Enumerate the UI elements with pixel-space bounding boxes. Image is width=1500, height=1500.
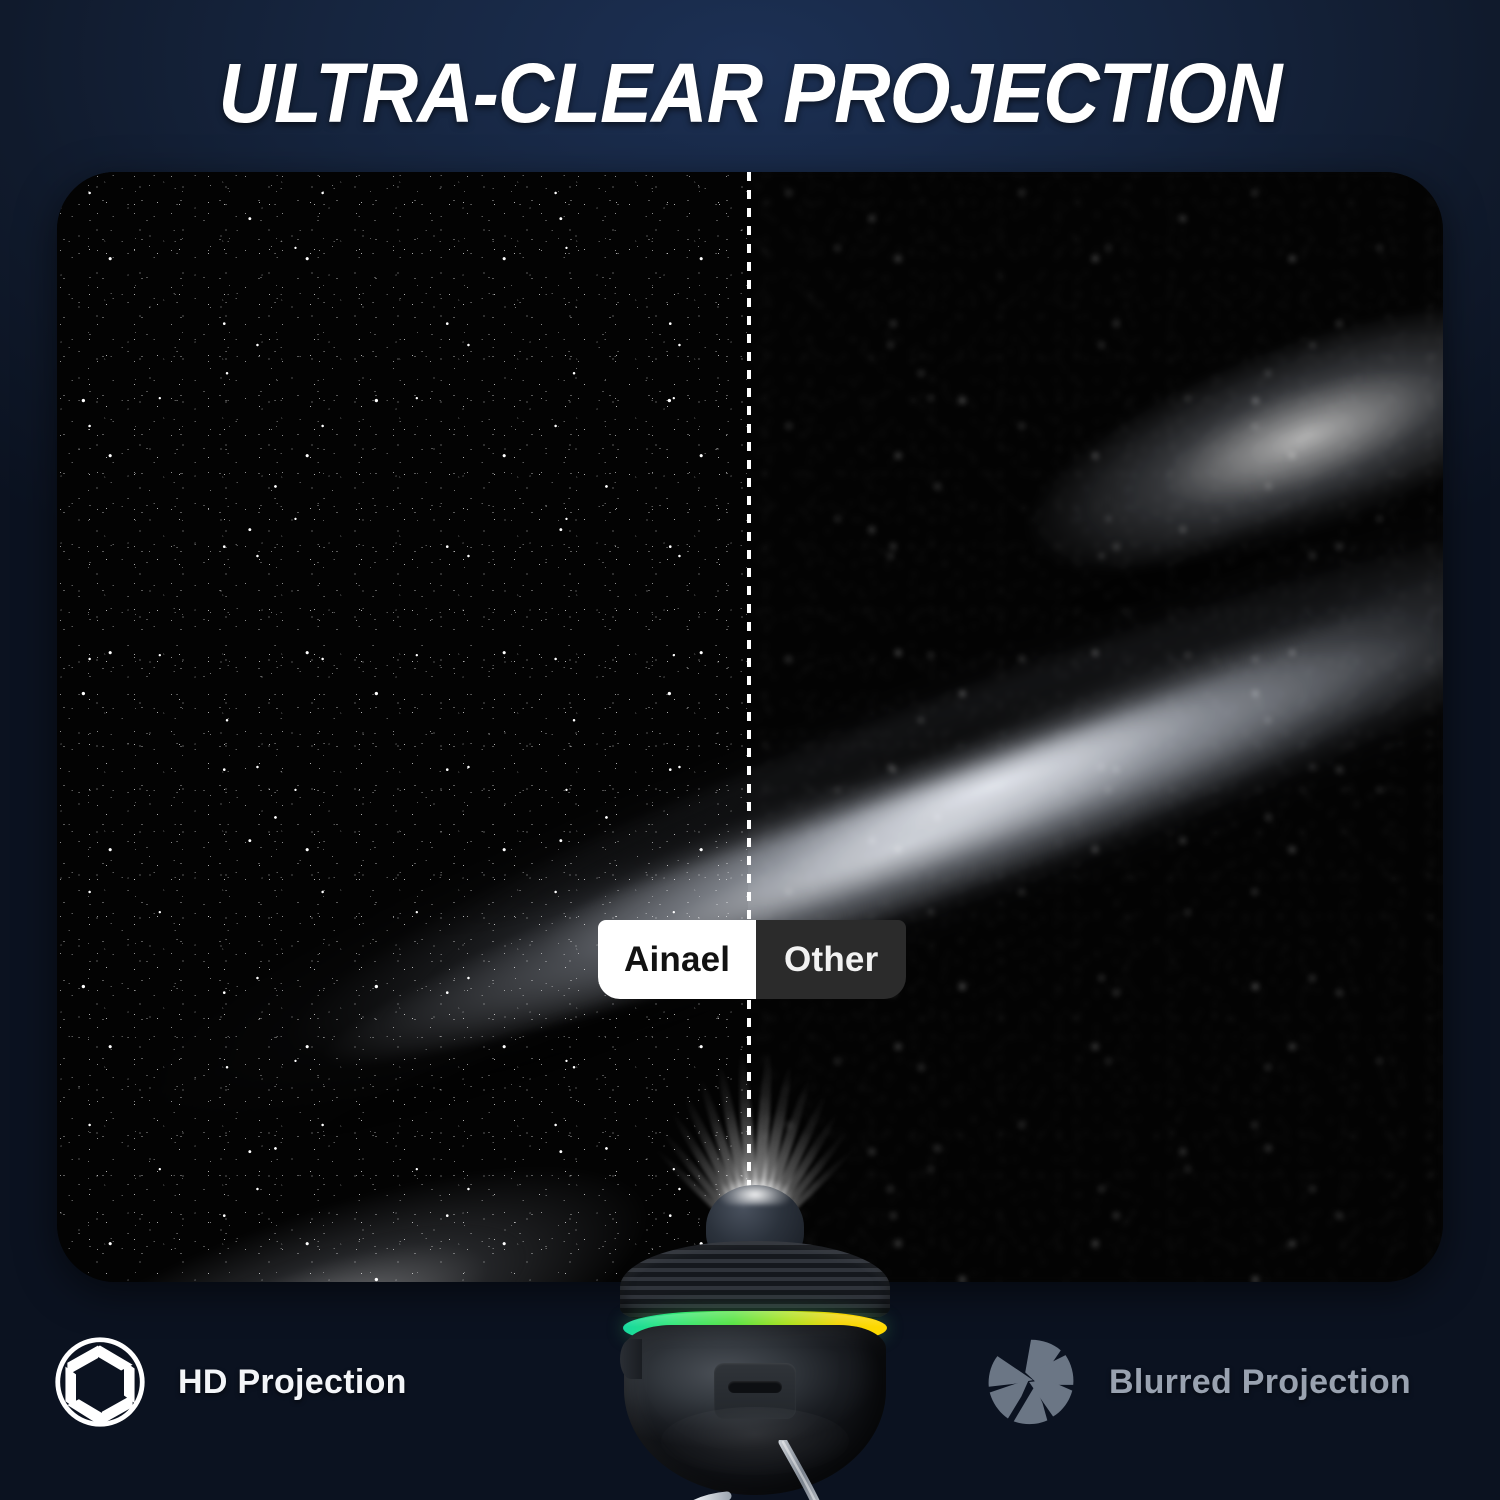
badge-other: Other [756,920,906,999]
feature-label: Blurred Projection [1109,1363,1411,1402]
comparison-badges: Ainael Other [598,920,906,999]
star-projector-device [612,1185,898,1500]
promo-banner: ULTRA-CLEAR PROJECTION Ainael Other [0,0,1500,1500]
usb-port-slot [728,1381,782,1393]
starfield-blurred [748,172,1443,1282]
feature-label: HD Projection [178,1363,407,1402]
badge-ainael: Ainael [598,920,756,999]
aperture-icon [983,1334,1079,1430]
metal-hook-stand [655,1440,855,1500]
feature-blurred-projection: Blurred Projection [983,1334,1411,1430]
bright-stars [57,172,748,1282]
starfield-sharp [57,172,748,1282]
bright-stars [748,172,1443,1282]
projector-ribbed-band [620,1241,890,1321]
projector-side-lug [620,1339,642,1379]
projector-lens-glow [720,1179,790,1205]
page-title: ULTRA-CLEAR PROJECTION [53,46,1448,140]
aperture-icon [52,1334,148,1430]
feature-hd-projection: HD Projection [52,1334,407,1430]
comparison-right-image [748,172,1443,1282]
comparison-left-image [57,172,748,1282]
comparison-divider [747,172,751,1282]
